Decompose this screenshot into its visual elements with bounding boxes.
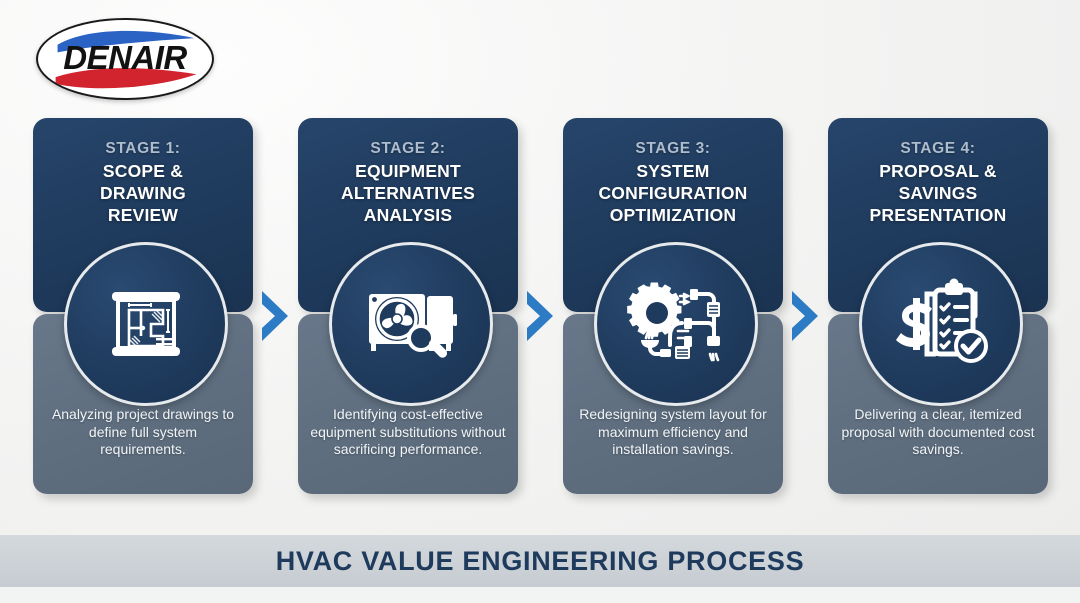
stage-card-2[interactable]: STAGE 2: EQUIPMENT ALTERNATIVES ANALYSIS xyxy=(298,118,518,494)
stage-1-title: SCOPE & DRAWING REVIEW xyxy=(39,160,247,226)
footer-title-band: HVAC VALUE ENGINEERING PROCESS xyxy=(0,535,1080,587)
logo-wordmark: DENAIR xyxy=(38,39,212,77)
stage-card-1[interactable]: STAGE 1: SCOPE & DRAWING REVIEW xyxy=(33,118,253,494)
hvac-unit-magnifier-icon xyxy=(329,242,493,406)
stage-card-3[interactable]: STAGE 3: SYSTEM CONFIGURATION OPTIMIZATI… xyxy=(563,118,783,494)
denair-logo: DENAIR xyxy=(36,18,214,100)
blueprint-icon xyxy=(64,242,228,406)
infographic-canvas: DENAIR STAGE 1: SCOPE & DRAWING REVIEW xyxy=(0,0,1080,603)
footer-bottom-strip xyxy=(0,587,1080,603)
stage-1-description: Analyzing project drawings to define ful… xyxy=(45,406,241,459)
gear-ductwork-icon xyxy=(594,242,758,406)
stage-3-title: SYSTEM CONFIGURATION OPTIMIZATION xyxy=(569,160,777,226)
stage-4-title: PROPOSAL & SAVINGS PRESENTATION xyxy=(834,160,1042,226)
stage-2-description: Identifying cost-effective equipment sub… xyxy=(310,406,506,459)
stage-2-number-label: STAGE 2: xyxy=(306,140,510,158)
process-stage-row: STAGE 1: SCOPE & DRAWING REVIEW xyxy=(0,118,1080,498)
stage-4-description: Delivering a clear, itemized proposal wi… xyxy=(840,406,1036,459)
stage-card-4[interactable]: STAGE 4: PROPOSAL & SAVINGS PRESENTATION xyxy=(828,118,1048,494)
chevron-right-icon-1 xyxy=(258,288,294,344)
logo-oval-frame: DENAIR xyxy=(36,18,214,100)
chevron-right-icon-2 xyxy=(523,288,559,344)
infographic-main-title: HVAC VALUE ENGINEERING PROCESS xyxy=(276,546,805,577)
stage-4-number-label: STAGE 4: xyxy=(836,140,1040,158)
stage-1-number-label: STAGE 1: xyxy=(41,140,245,158)
chevron-right-icon-3 xyxy=(788,288,824,344)
stage-3-description: Redesigning system layout for maximum ef… xyxy=(575,406,771,459)
stage-3-number-label: STAGE 3: xyxy=(571,140,775,158)
stage-2-title: EQUIPMENT ALTERNATIVES ANALYSIS xyxy=(304,160,512,226)
dollar-clipboard-check-icon xyxy=(859,242,1023,406)
